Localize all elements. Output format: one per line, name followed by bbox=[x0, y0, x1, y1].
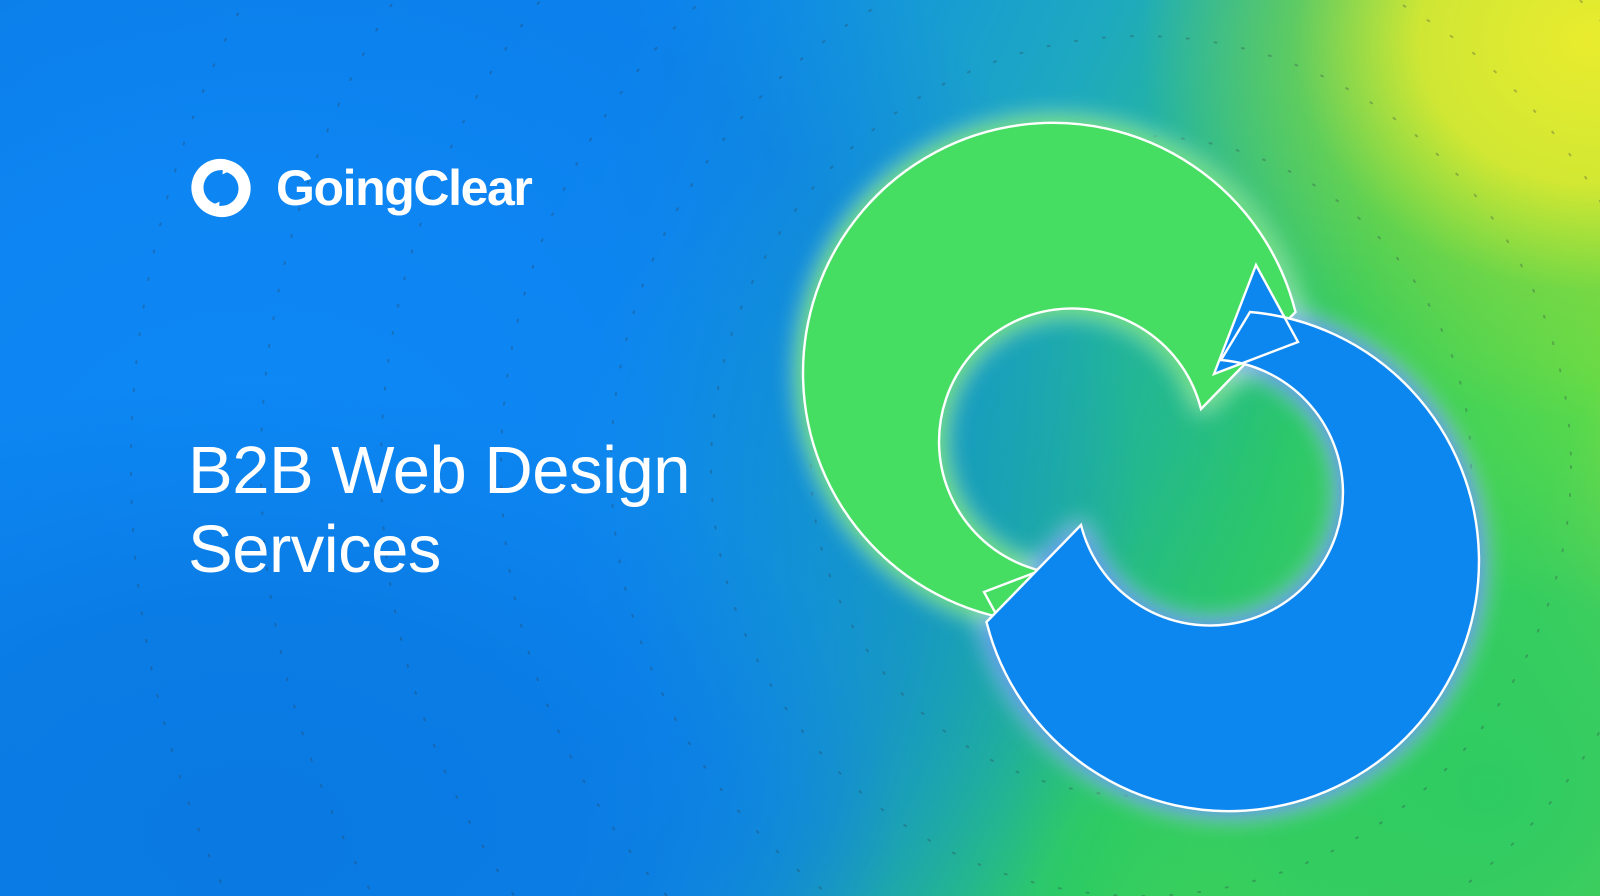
hero-cycle-graphic bbox=[836, 162, 1446, 772]
brand-logo-lockup[interactable]: GoingClear bbox=[185, 152, 531, 224]
cycle-refresh-circle-icon-large bbox=[836, 162, 1446, 772]
page-title: B2B Web Design Services bbox=[188, 431, 788, 589]
headline-line-1: B2B Web Design bbox=[188, 431, 788, 510]
cycle-refresh-circle-icon bbox=[185, 152, 257, 224]
headline-line-2: Services bbox=[188, 510, 788, 589]
hero-banner: GoingClear B2B Web Design Services bbox=[0, 0, 1600, 896]
brand-name: GoingClear bbox=[276, 163, 531, 213]
